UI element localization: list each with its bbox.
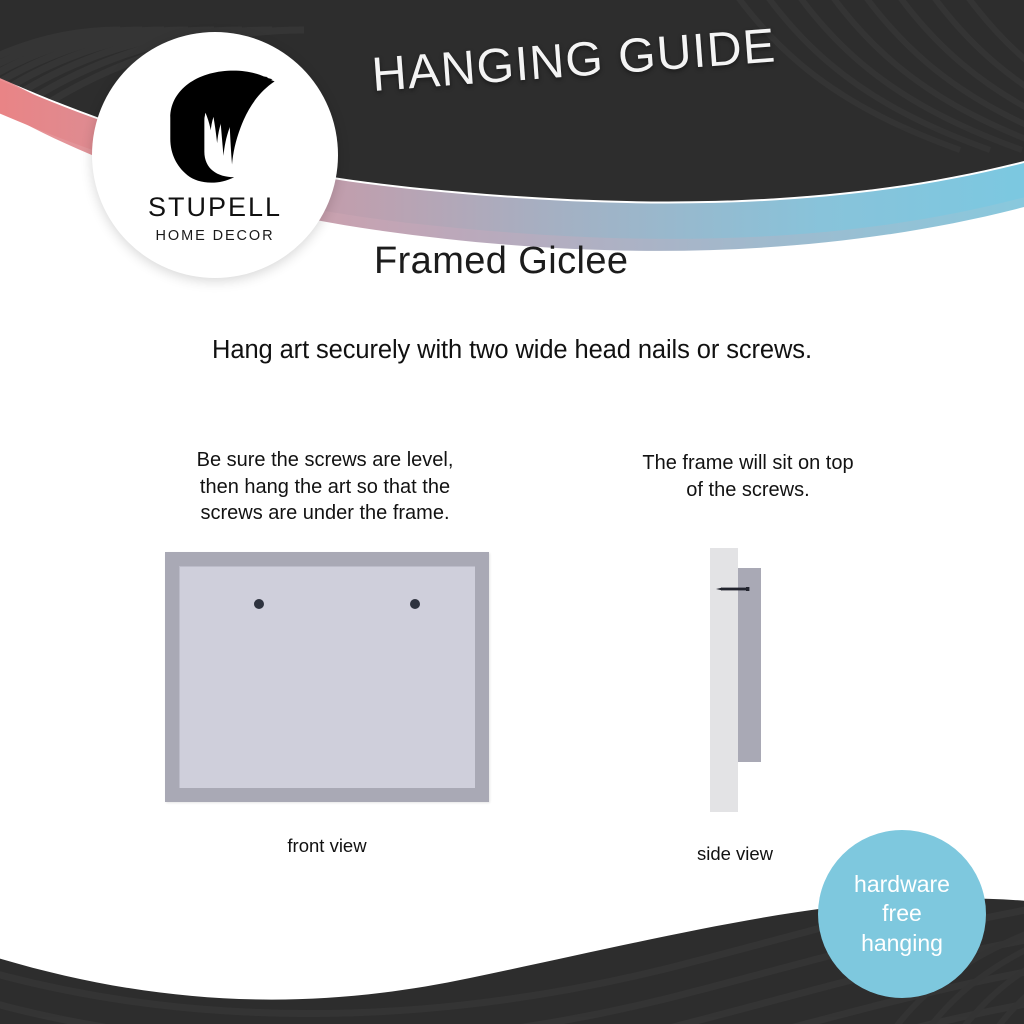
- front-view-caption: Be sure the screws are level, then hang …: [160, 447, 490, 527]
- product-type: Framed Giclee: [374, 240, 628, 283]
- nail-side-icon: [716, 587, 752, 591]
- front-view-caption-line-1: Be sure the screws are level,: [160, 447, 490, 474]
- brand-logo-badge: STUPELL HOME DECOR: [92, 32, 338, 278]
- screw-dot-right-icon: [410, 599, 420, 609]
- badge-line-1: hardware: [854, 870, 950, 899]
- badge-line-3: hanging: [861, 929, 943, 958]
- side-view-label: side view: [655, 843, 815, 865]
- hardware-free-hanging-badge: hardware free hanging: [818, 830, 986, 998]
- front-view-caption-line-2: then hang the art so that the: [160, 474, 490, 501]
- badge-line-2: free: [882, 899, 922, 928]
- front-view-frame-diagram: [165, 552, 489, 802]
- page-title: HANGING GUIDE: [370, 11, 883, 103]
- brand-tagline: HOME DECOR: [156, 228, 275, 244]
- hanging-guide-infographic: STUPELL HOME DECOR HANGING GUIDE Framed …: [0, 0, 1024, 1024]
- front-view-label: front view: [165, 835, 489, 857]
- front-view-mat: [179, 566, 475, 788]
- brand-name: STUPELL: [148, 194, 282, 221]
- side-view-caption-line-2: of the screws.: [600, 477, 896, 504]
- stupell-swoosh-logo-icon: [150, 58, 280, 190]
- front-view-caption-line-3: screws are under the frame.: [160, 500, 490, 527]
- side-view-caption-line-1: The frame will sit on top: [600, 450, 896, 477]
- screw-dot-left-icon: [254, 599, 264, 609]
- main-instruction: Hang art securely with two wide head nai…: [0, 336, 1024, 365]
- side-view-frame: [738, 568, 761, 762]
- side-view-caption: The frame will sit on top of the screws.: [600, 450, 896, 503]
